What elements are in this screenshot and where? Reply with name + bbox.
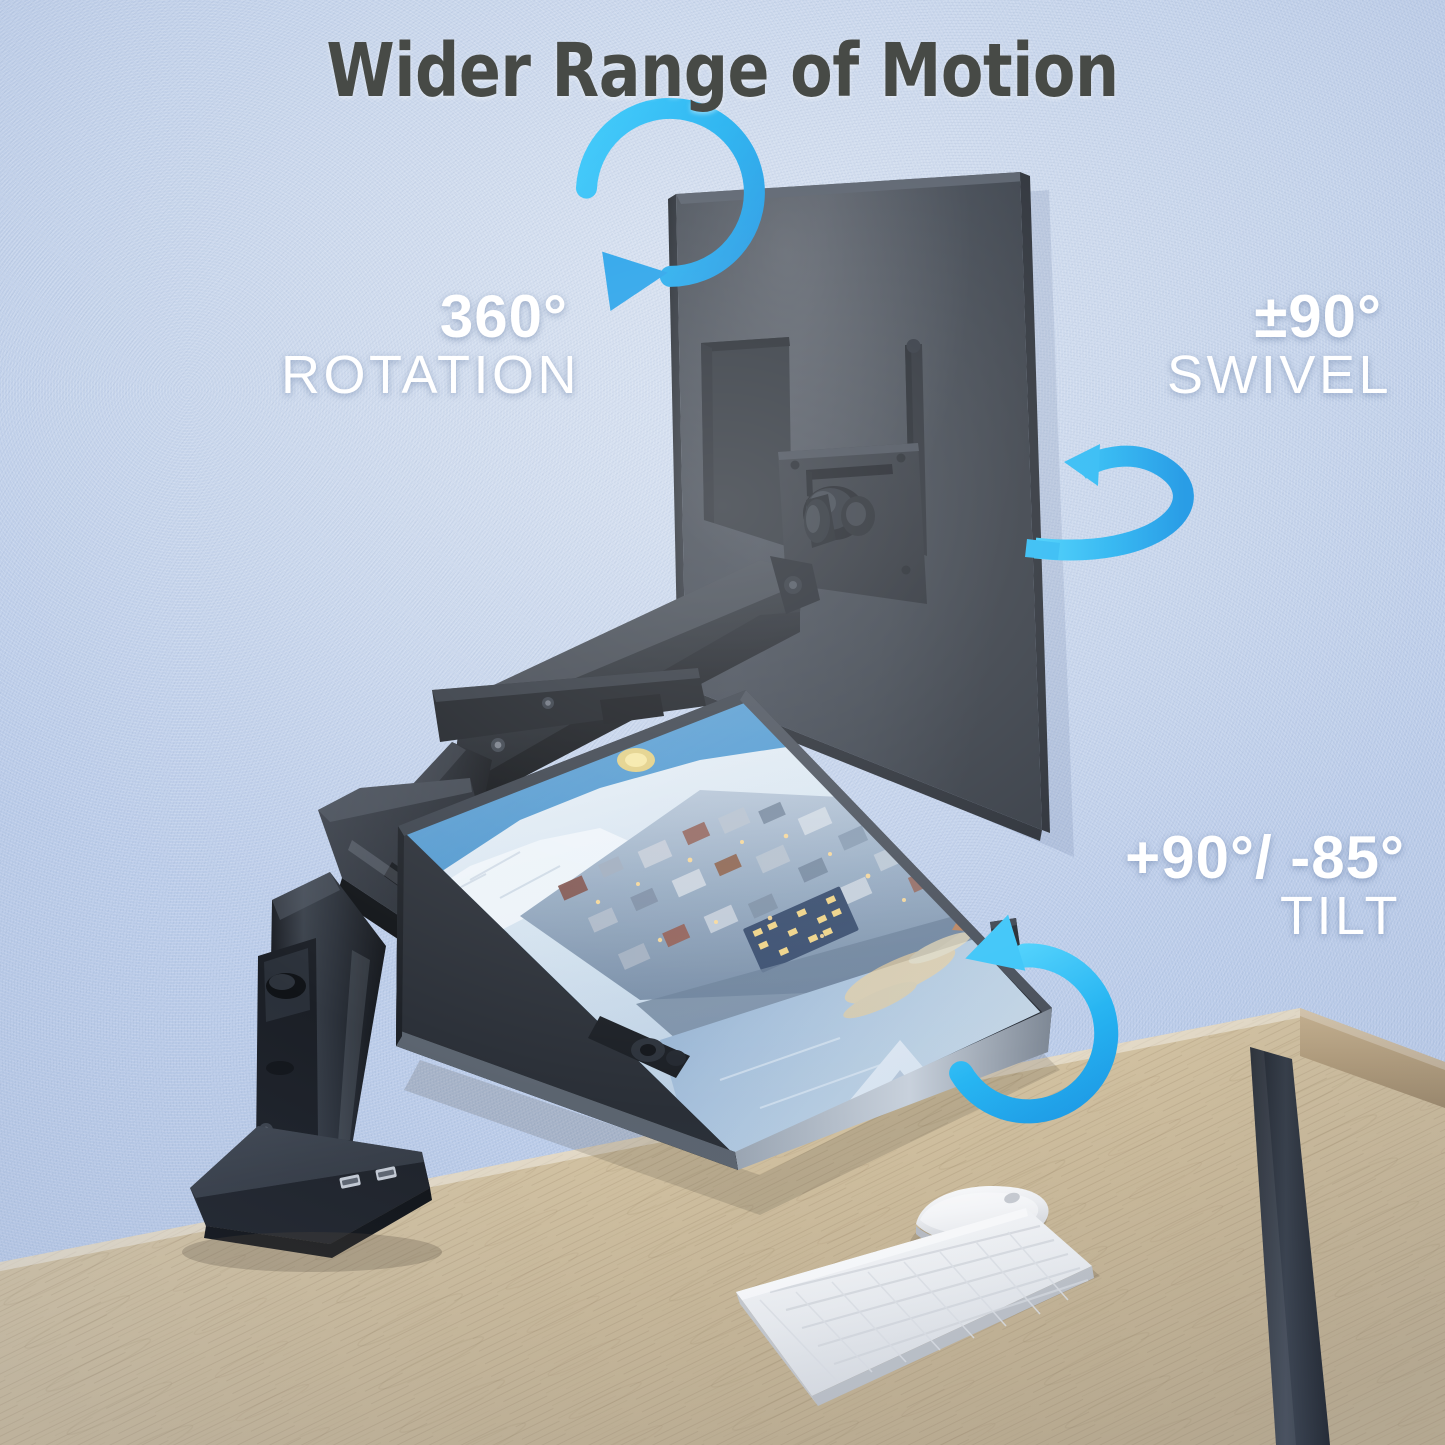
gas-spring-monitor-arm <box>0 0 1445 1445</box>
callout-swivel-label: SWIVEL <box>1062 347 1392 404</box>
page-title: Wider Range of Motion <box>51 28 1395 114</box>
desk-layer <box>0 0 1445 1445</box>
callout-rotation-label: ROTATION <box>150 347 580 404</box>
wooden-desk <box>0 1008 1445 1445</box>
landscape-monitor-chassis <box>396 826 404 1046</box>
callout-tilt-label: TILT <box>980 888 1405 945</box>
wall-texture <box>0 0 1445 1445</box>
callout-tilt: +90°/ -85° TILT <box>980 827 1405 945</box>
callout-tilt-value: +90°/ -85° <box>980 827 1405 888</box>
product-infographic: Wider Range of Motion 360° ROTATION ±90°… <box>0 0 1445 1445</box>
callout-rotation-value: 360° <box>150 286 580 347</box>
callout-rotation: 360° ROTATION <box>150 286 580 404</box>
callout-swivel-value: ±90° <box>1062 286 1392 347</box>
wireless-keyboard <box>736 1208 1100 1406</box>
wireless-mouse <box>901 1183 1056 1280</box>
tilt-arrow-layer <box>0 0 1445 1445</box>
portrait-monitor <box>0 0 1445 1445</box>
clamp-base-with-usb-ports <box>182 1126 442 1272</box>
upper-arm-segment <box>452 556 820 800</box>
landscape-monitor-bezel <box>396 690 1052 1170</box>
landscape-monitor-hinge <box>588 1016 690 1078</box>
peripherals-layer <box>0 0 1445 1445</box>
portrait-monitor-body <box>668 172 1050 841</box>
swivel-arrow-icon <box>1025 444 1183 560</box>
vesa-mount-plate <box>778 443 927 604</box>
lower-arm-segment <box>318 778 640 1068</box>
arm-post <box>256 872 386 1158</box>
town-buildings <box>558 802 938 973</box>
circular-arrow-icon <box>572 91 772 311</box>
callout-swivel: ±90° SWIVEL <box>1062 286 1392 404</box>
scene-vignette <box>0 0 1445 1445</box>
landscape-monitor <box>0 0 1445 1445</box>
landscape-monitor-bracket-top <box>432 668 706 742</box>
desk-leg <box>1250 1047 1330 1445</box>
arm-elbow-joint <box>398 742 492 840</box>
monitor-wallpaper <box>380 670 1070 1180</box>
motion-arrows-upper <box>0 0 1445 1445</box>
